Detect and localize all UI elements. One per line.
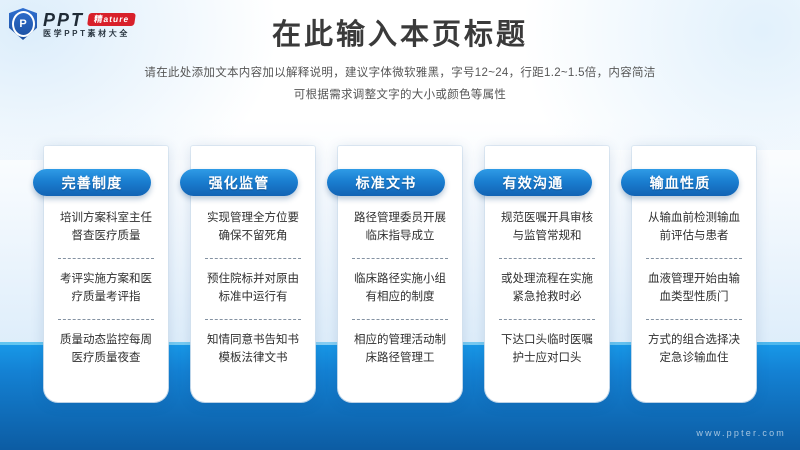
item-divider (205, 258, 301, 259)
page-subtitle-line-2: 可根据需求调整文字的大小或颜色等属性 (0, 84, 800, 106)
item-divider (58, 319, 154, 320)
item-divider (352, 319, 448, 320)
list-item: 临床路径实施小组有相应的制度 (350, 259, 450, 319)
list-item: 规范医嘱开具审核与监管常规和 (497, 198, 597, 258)
card-5-items: 从输血前检测输血前评估与患者 血液管理开始由输血类型性质门 方式的组合选择决定急… (632, 198, 756, 402)
card-3-title: 标准文书 (327, 169, 445, 196)
item-divider (352, 258, 448, 259)
list-item: 知情同意书告知书模板法律文书 (203, 320, 303, 380)
card-4[interactable]: 有效沟通 规范医嘱开具审核与监管常规和 或处理流程在实施紧急抢救时必 下达口头临… (485, 146, 609, 402)
card-2-title: 强化监管 (180, 169, 298, 196)
page-subtitle: 请在此处添加文本内容加以解释说明，建议字体微软雅黑，字号12~24，行距1.2~… (0, 62, 800, 107)
item-divider (646, 258, 742, 259)
list-item: 从输血前检测输血前评估与患者 (644, 198, 744, 258)
item-divider (499, 258, 595, 259)
card-1-title: 完善制度 (33, 169, 151, 196)
list-item: 质量动态监控每周医疗质量夜查 (56, 320, 156, 380)
card-2[interactable]: 强化监管 实现管理全方位要确保不留死角 预住院标并对原由标准中运行有 知情同意书… (191, 146, 315, 402)
list-item: 下达口头临时医嘱护士应对口头 (497, 320, 597, 380)
card-5[interactable]: 输血性质 从输血前检测输血前评估与患者 血液管理开始由输血类型性质门 方式的组合… (632, 146, 756, 402)
list-item: 方式的组合选择决定急诊输血住 (644, 320, 744, 380)
list-item: 实现管理全方位要确保不留死角 (203, 198, 303, 258)
list-item: 路径管理委员开展临床指导成立 (350, 198, 450, 258)
card-3-items: 路径管理委员开展临床指导成立 临床路径实施小组有相应的制度 相应的管理活动制床路… (338, 198, 462, 402)
item-divider (499, 319, 595, 320)
list-item: 或处理流程在实施紧急抢救时必 (497, 259, 597, 319)
item-divider (58, 258, 154, 259)
card-4-items: 规范医嘱开具审核与监管常规和 或处理流程在实施紧急抢救时必 下达口头临时医嘱护士… (485, 198, 609, 402)
page-title: 在此输入本页标题 (0, 18, 800, 53)
card-5-title: 输血性质 (621, 169, 739, 196)
list-item: 考评实施方案和医疗质量考评指 (56, 259, 156, 319)
list-item: 相应的管理活动制床路径管理工 (350, 320, 450, 380)
slide-canvas: P PPT 精ature 医学PPT素材大全 在此输入本页标题 请在此处添加文本… (0, 0, 800, 450)
item-divider (646, 319, 742, 320)
card-2-items: 实现管理全方位要确保不留死角 预住院标并对原由标准中运行有 知情同意书告知书模板… (191, 198, 315, 402)
card-3[interactable]: 标准文书 路径管理委员开展临床指导成立 临床路径实施小组有相应的制度 相应的管理… (338, 146, 462, 402)
watermark: www.ppter.com (696, 428, 786, 438)
item-divider (205, 319, 301, 320)
page-subtitle-line-1: 请在此处添加文本内容加以解释说明，建议字体微软雅黑，字号12~24，行距1.2~… (0, 62, 800, 84)
card-1-items: 培训方案科室主任督查医疗质量 考评实施方案和医疗质量考评指 质量动态监控每周医疗… (44, 198, 168, 402)
card-4-title: 有效沟通 (474, 169, 592, 196)
list-item: 预住院标并对原由标准中运行有 (203, 259, 303, 319)
card-row: 完善制度 培训方案科室主任督查医疗质量 考评实施方案和医疗质量考评指 质量动态监… (0, 146, 800, 402)
list-item: 血液管理开始由输血类型性质门 (644, 259, 744, 319)
card-1[interactable]: 完善制度 培训方案科室主任督查医疗质量 考评实施方案和医疗质量考评指 质量动态监… (44, 146, 168, 402)
list-item: 培训方案科室主任督查医疗质量 (56, 198, 156, 258)
